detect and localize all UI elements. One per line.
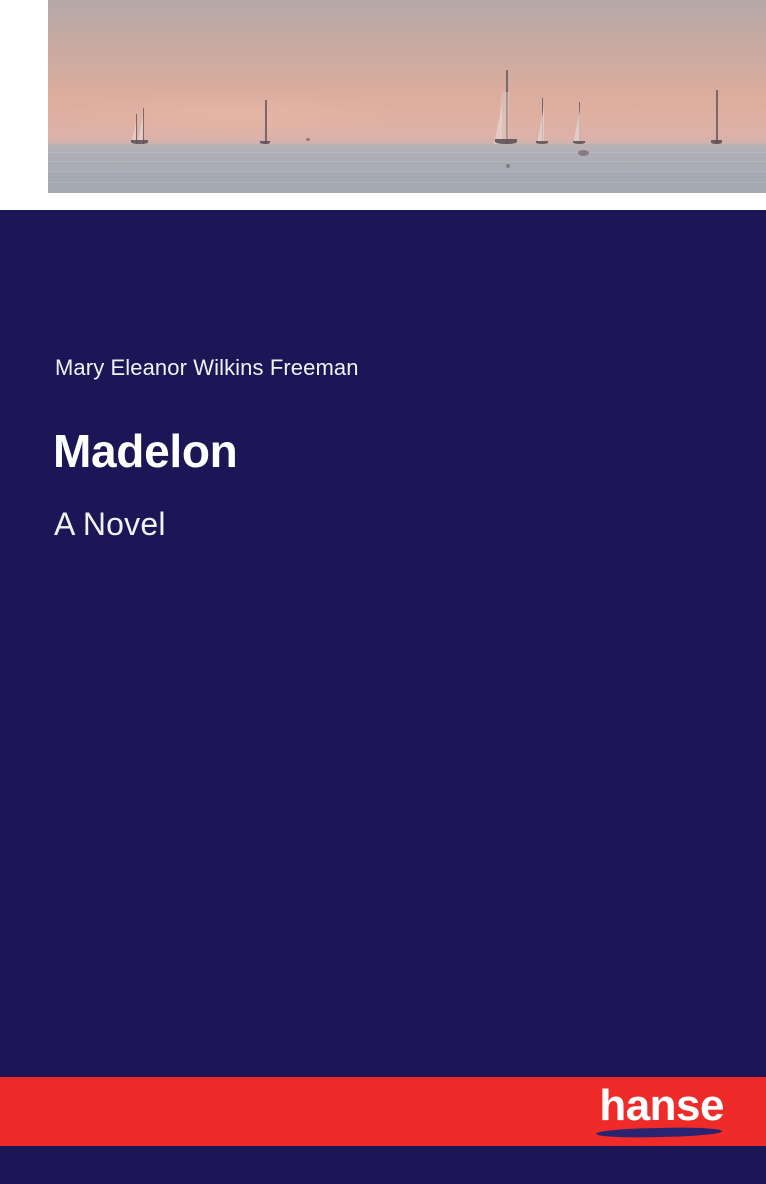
ship-mast-left: [260, 98, 270, 144]
buoy-left: [306, 138, 310, 141]
ship-sloop-b: [572, 100, 586, 144]
hanse-logo-text: hanse: [584, 1081, 724, 1131]
book-subtitle: A Novel: [54, 506, 166, 543]
tall-ships-photo: [48, 0, 766, 193]
ship-schooner-far-left: [130, 106, 150, 144]
ship-tall-center-left: [492, 68, 520, 144]
cover-photo-band: [0, 0, 766, 210]
ship-sloop-a: [535, 96, 549, 144]
buoy-center: [578, 150, 589, 156]
author-name: Mary Eleanor Wilkins Freeman: [55, 355, 359, 381]
photo-sea: [48, 144, 766, 193]
hanse-logo: hanse: [584, 1081, 724, 1143]
buoy-small-center: [506, 164, 510, 168]
book-cover: Mary Eleanor Wilkins Freeman Madelon A N…: [0, 0, 766, 1184]
photo-sun-glow: [70, 89, 400, 139]
ship-mast-center: [710, 88, 722, 144]
book-title: Madelon: [53, 424, 237, 478]
